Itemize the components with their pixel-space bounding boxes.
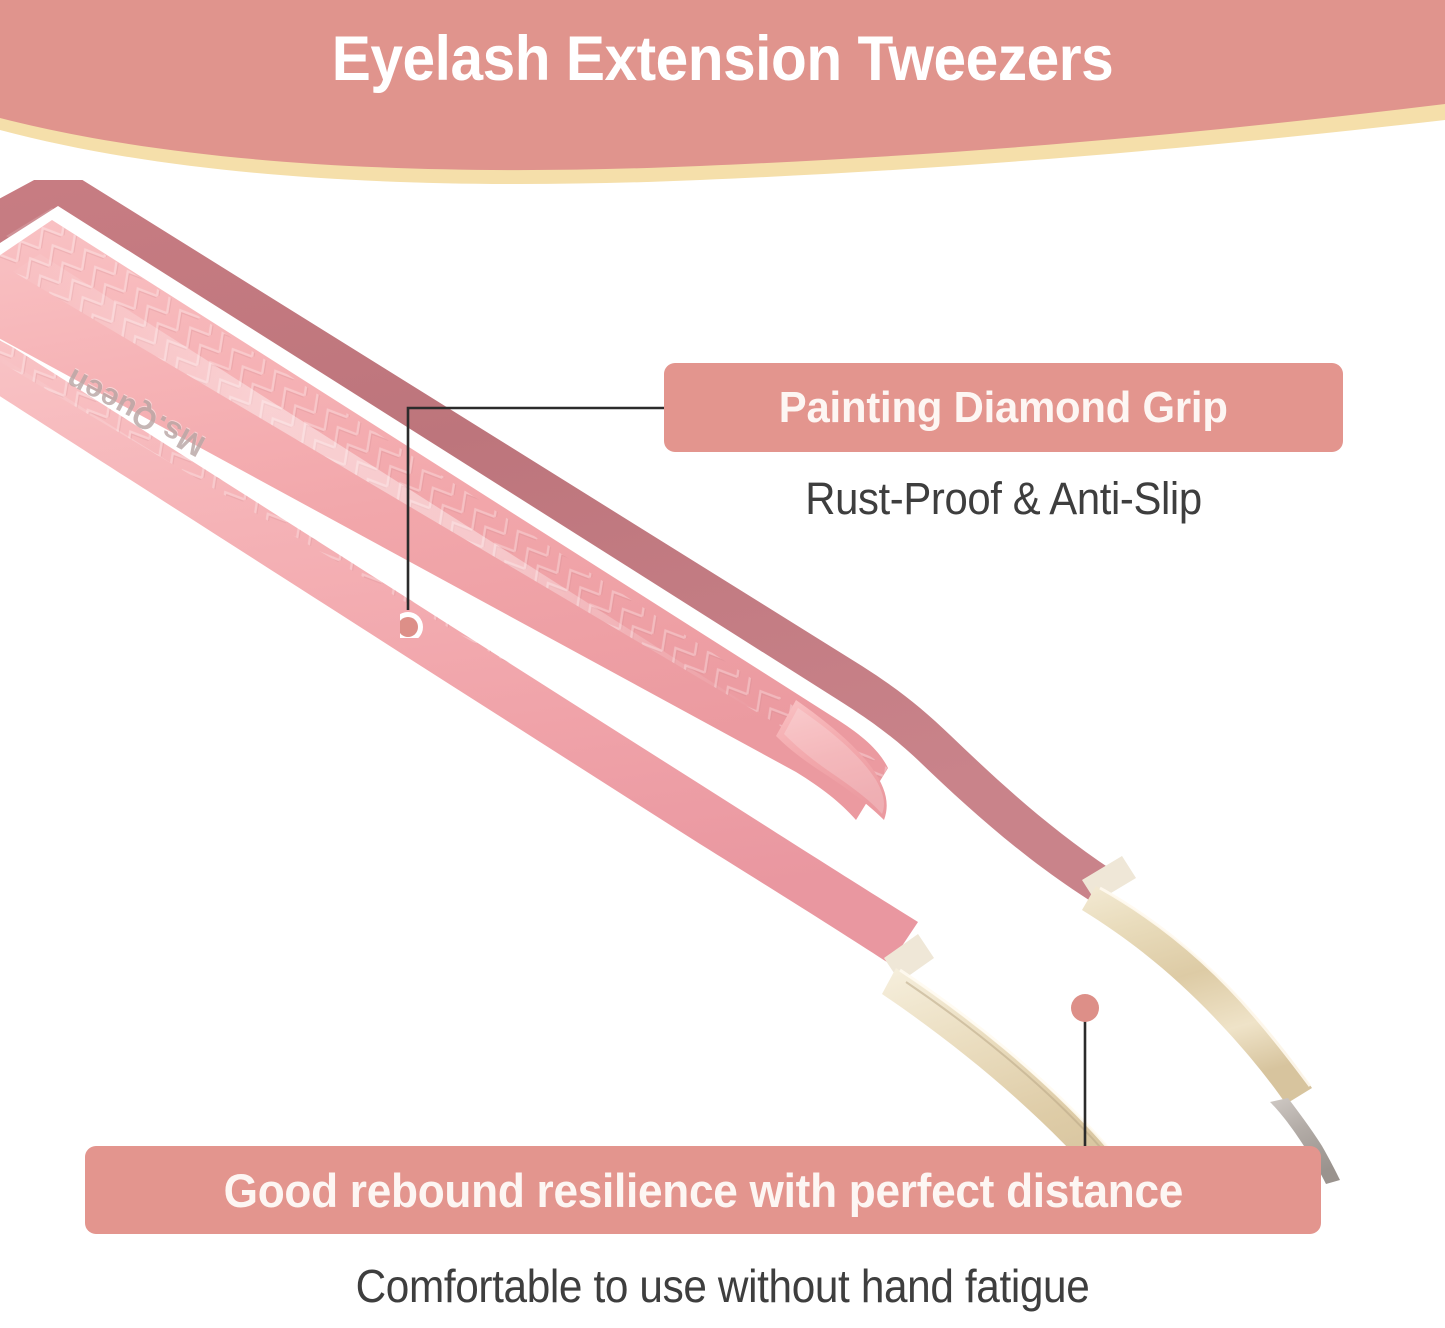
callout-subtitle-bottom: Comfortable to use without hand fatigue	[58, 1259, 1387, 1313]
tweezer-illustration	[0, 180, 1445, 1190]
product-infographic: Eyelash Extension Tweezers	[0, 0, 1445, 1328]
callout-badge-painting-diamond-grip[interactable]: Painting Diamond Grip	[664, 363, 1343, 452]
callout-badge-label-top: Painting Diamond Grip	[779, 383, 1228, 433]
tweezer-upper-tip	[1082, 856, 1340, 1184]
callout-leader-line-top	[400, 398, 680, 638]
header-banner: Eyelash Extension Tweezers	[0, 0, 1445, 200]
marker-dot-bottom	[1071, 994, 1099, 1022]
upper-tip-blade	[1082, 886, 1312, 1104]
callout-leader-line-bottom	[1070, 994, 1102, 1154]
product-image: Ms.Queen	[0, 180, 1445, 1190]
page-title: Eyelash Extension Tweezers	[51, 26, 1395, 92]
leader-path-top	[408, 408, 672, 610]
callout-badge-label-bottom: Good rebound resilience with perfect dis…	[223, 1163, 1182, 1218]
callout-badge-good-rebound-resilience[interactable]: Good rebound resilience with perfect dis…	[85, 1146, 1321, 1234]
callout-subtitle-top: Rust-Proof & Anti-Slip	[688, 473, 1319, 525]
